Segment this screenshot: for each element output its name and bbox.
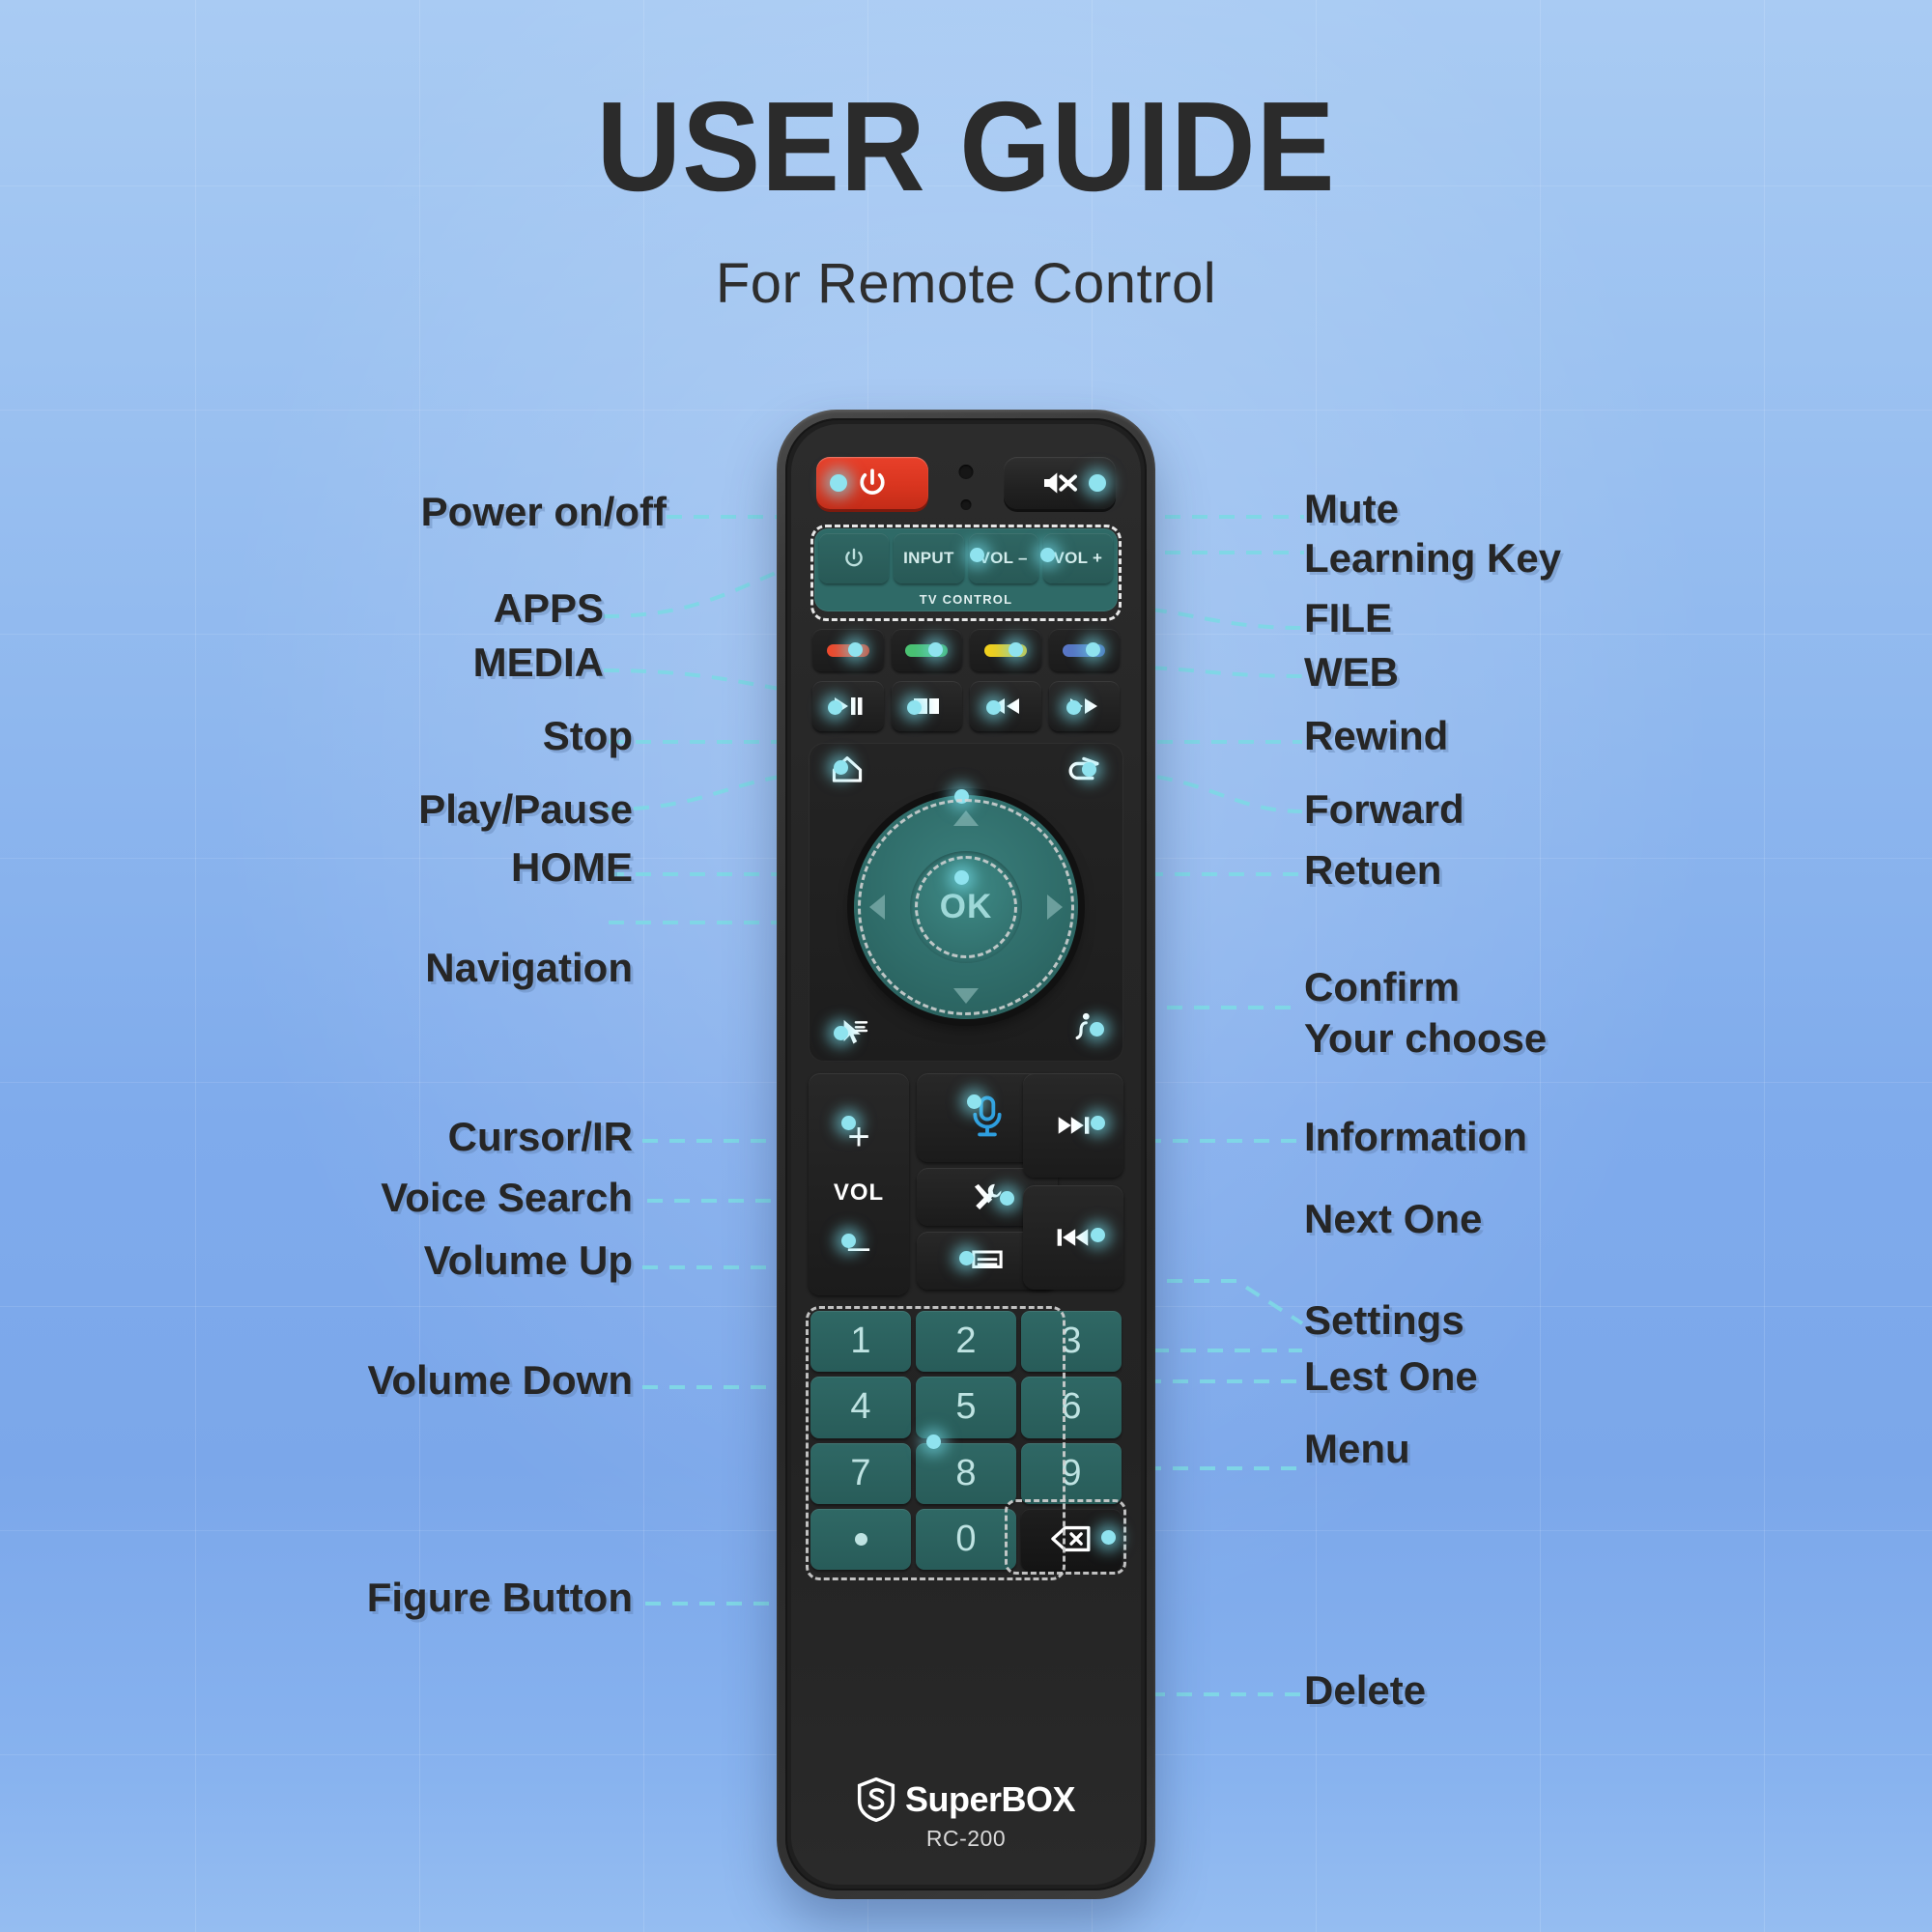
callout-web: WEB: [1304, 651, 1399, 695]
hotspot-menu: [959, 1251, 974, 1265]
hotspot-tv-vol-down: [970, 548, 984, 562]
ok-button[interactable]: OK: [910, 851, 1022, 963]
color-key-blue[interactable]: [1049, 629, 1121, 671]
hotspot-web: [1086, 642, 1100, 657]
hotspot-stop: [907, 700, 922, 715]
color-key-yellow[interactable]: [970, 629, 1041, 671]
callout-delete: Delete: [1304, 1669, 1426, 1713]
hotspot-volume-down: [841, 1234, 856, 1248]
page-subtitle: For Remote Control: [0, 251, 1932, 316]
callout-your-choose: Your choose: [1304, 1017, 1547, 1061]
callout-file: FILE: [1304, 597, 1392, 640]
callout-forward: Forward: [1304, 788, 1464, 832]
next-one-button[interactable]: [1023, 1073, 1123, 1178]
callout-play-pause: Play/Pause: [418, 788, 633, 832]
hotspot-delete: [1101, 1530, 1116, 1545]
hotspot-apps: [848, 642, 863, 657]
callout-settings: Settings: [1304, 1299, 1464, 1343]
dpad-right-icon[interactable]: [1047, 895, 1063, 920]
mute-icon: [1040, 468, 1079, 498]
callout-rewind: Rewind: [1304, 715, 1448, 758]
hotspot-play-pause: [828, 700, 842, 715]
next-track-icon: [1055, 1114, 1092, 1137]
learning-key-highlight: [810, 525, 1122, 621]
brand-block: SuperBOX RC-200: [791, 1777, 1141, 1852]
forward-button[interactable]: [1049, 681, 1121, 731]
callout-volume-down: Volume Down: [367, 1359, 633, 1403]
callout-information: Information: [1304, 1116, 1527, 1159]
function-block: + VOL –: [809, 1073, 1123, 1295]
hotspot-settings: [1000, 1191, 1014, 1206]
stop-button[interactable]: [892, 681, 963, 731]
page-title: USER GUIDE: [77, 83, 1855, 211]
hotspot-home: [834, 760, 848, 775]
hotspot-figure-button: [926, 1435, 941, 1449]
hotspot-media: [928, 642, 943, 657]
tools-icon: [971, 1181, 1004, 1212]
dpad-left-icon[interactable]: [869, 895, 885, 920]
callout-home: HOME: [511, 846, 633, 890]
power-icon: [856, 467, 889, 499]
callout-next-one: Next One: [1304, 1198, 1482, 1241]
callout-mute: Mute: [1304, 488, 1399, 531]
hotspot-forward: [1066, 700, 1081, 715]
hotspot-power: [830, 474, 847, 492]
play-pause-button[interactable]: [812, 681, 884, 731]
callout-lest-one: Lest One: [1304, 1355, 1478, 1399]
color-key-green[interactable]: [892, 629, 963, 671]
hotspot-return: [1082, 762, 1096, 777]
ok-label: OK: [940, 888, 993, 926]
track-column: [1023, 1073, 1123, 1295]
hotspot-next-one: [1091, 1116, 1105, 1130]
lest-one-button[interactable]: [1023, 1185, 1123, 1290]
poster-canvas: USER GUIDE For Remote Control: [0, 0, 1932, 1932]
numeric-keypad: 1 2 3 4 5 6 7 8 9 0: [810, 1311, 1122, 1570]
superbox-shield-icon: [857, 1777, 895, 1822]
volume-column: + VOL –: [809, 1073, 909, 1295]
callout-stop: Stop: [543, 715, 633, 758]
menu-icon: [970, 1248, 1005, 1273]
dpad-down-icon[interactable]: [953, 988, 979, 1004]
hotspot-lest-one: [1091, 1228, 1105, 1242]
hotspot-volume-up: [841, 1116, 856, 1130]
remote-control: INPUT VOL – VOL + TV CONTROL: [777, 410, 1155, 1899]
brand-name: SuperBOX: [905, 1779, 1075, 1820]
callout-apps: APPS: [494, 587, 604, 631]
callout-navigation: Navigation: [425, 947, 633, 990]
callout-media: MEDIA: [473, 641, 604, 685]
callout-figure-button: Figure Button: [367, 1577, 633, 1620]
hotspot-navigation: [954, 789, 969, 804]
dpad-ring[interactable]: OK: [854, 795, 1078, 1019]
hotspot-file: [1009, 642, 1023, 657]
callout-voice-search: Voice Search: [381, 1177, 633, 1220]
hotspot-information: [1090, 1022, 1104, 1037]
remote-face: INPUT VOL – VOL + TV CONTROL: [791, 424, 1141, 1885]
hotspot-ok: [954, 870, 969, 885]
dpad-up-icon[interactable]: [953, 810, 979, 826]
callout-cursor-ir: Cursor/IR: [448, 1116, 633, 1159]
volume-label: VOL: [809, 1179, 909, 1207]
callout-confirm: Confirm: [1304, 966, 1460, 1009]
ir-led-top: [959, 465, 974, 479]
callout-retuen: Retuen: [1304, 849, 1441, 893]
ir-led-bottom: [961, 499, 972, 510]
callout-menu: Menu: [1304, 1428, 1410, 1471]
hotspot-tv-vol-up: [1040, 548, 1055, 562]
brand-model: RC-200: [791, 1826, 1141, 1852]
hotspot-cursor-ir: [834, 1026, 848, 1040]
previous-track-icon: [1055, 1226, 1092, 1249]
rewind-button[interactable]: [970, 681, 1041, 731]
hotspot-voice-search: [967, 1094, 981, 1109]
hotspot-rewind: [986, 700, 1001, 715]
hotspot-mute: [1089, 474, 1106, 492]
callout-volume-up: Volume Up: [424, 1239, 633, 1283]
callout-power-on-off: Power on/off: [421, 491, 667, 534]
navigation-zone: OK: [809, 743, 1123, 1062]
callout-learning-key: Learning Key: [1304, 537, 1561, 581]
